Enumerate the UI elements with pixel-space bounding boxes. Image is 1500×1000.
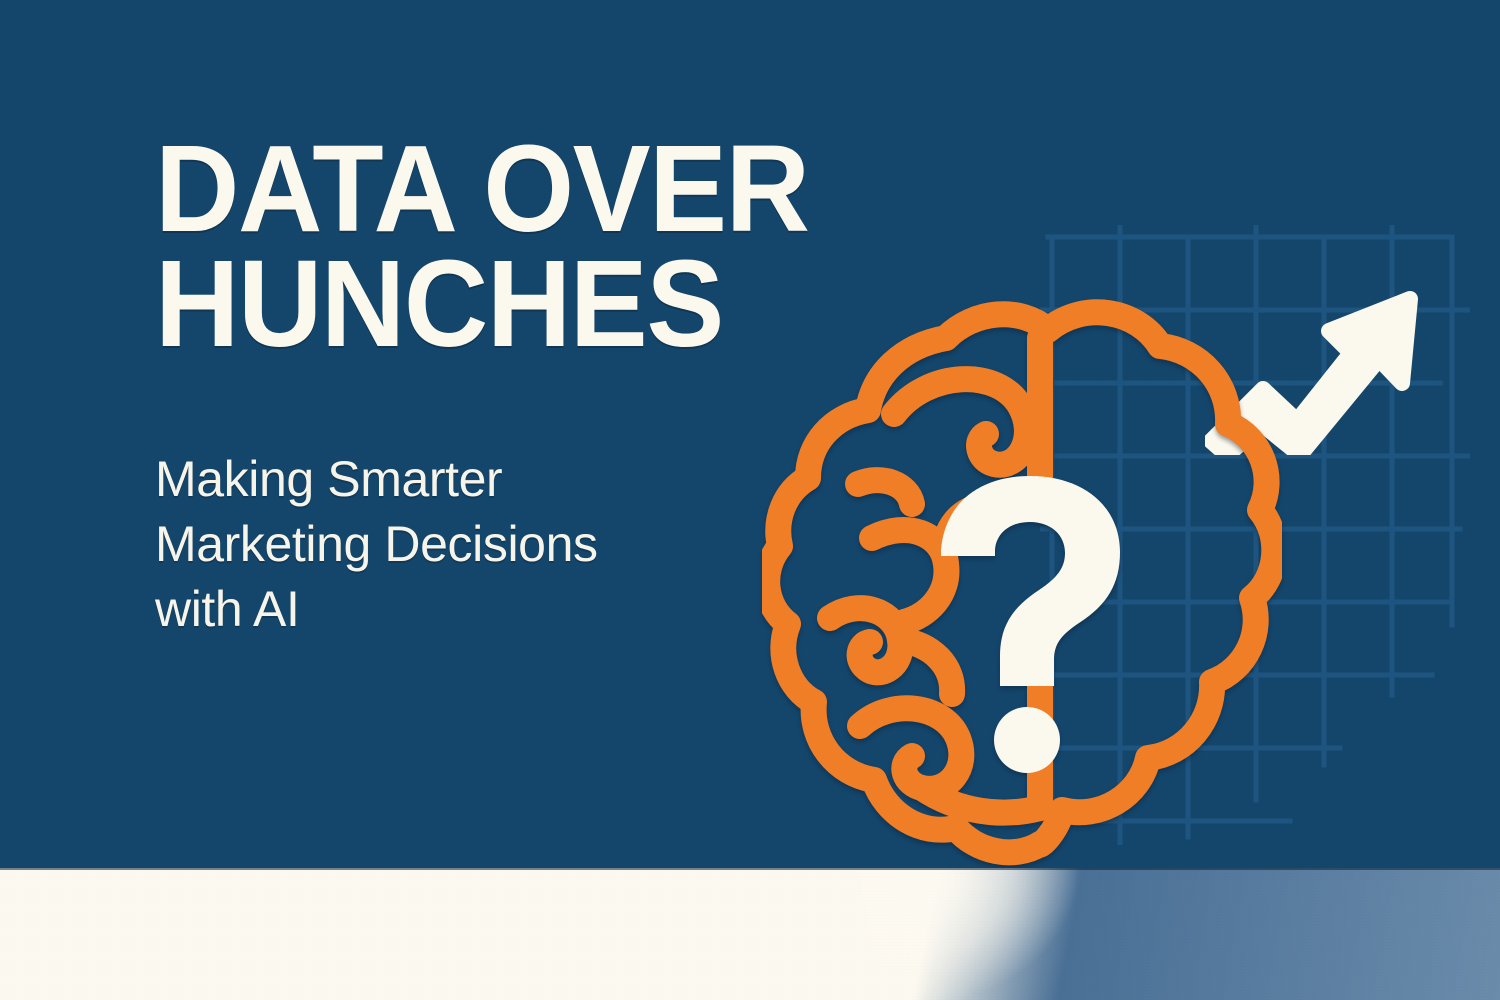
brain-outline-icon — [762, 288, 1282, 866]
hero-panel: DATA OVER HUNCHES Making Smarter Marketi… — [0, 0, 1500, 868]
page-title-line-2: HUNCHES — [155, 247, 915, 362]
page-subtitle: Making Smarter Marketing Decisions with … — [155, 447, 775, 642]
band-divider-line — [0, 868, 1500, 870]
band-blue-gradient — [0, 868, 1500, 1000]
page-title-line-1: DATA OVER — [155, 132, 915, 247]
bottom-band — [0, 868, 1500, 1000]
headline-block: DATA OVER HUNCHES — [155, 132, 955, 362]
slide-canvas: DATA OVER HUNCHES Making Smarter Marketi… — [0, 0, 1500, 1000]
subheadline-block: Making Smarter Marketing Decisions with … — [155, 447, 775, 642]
